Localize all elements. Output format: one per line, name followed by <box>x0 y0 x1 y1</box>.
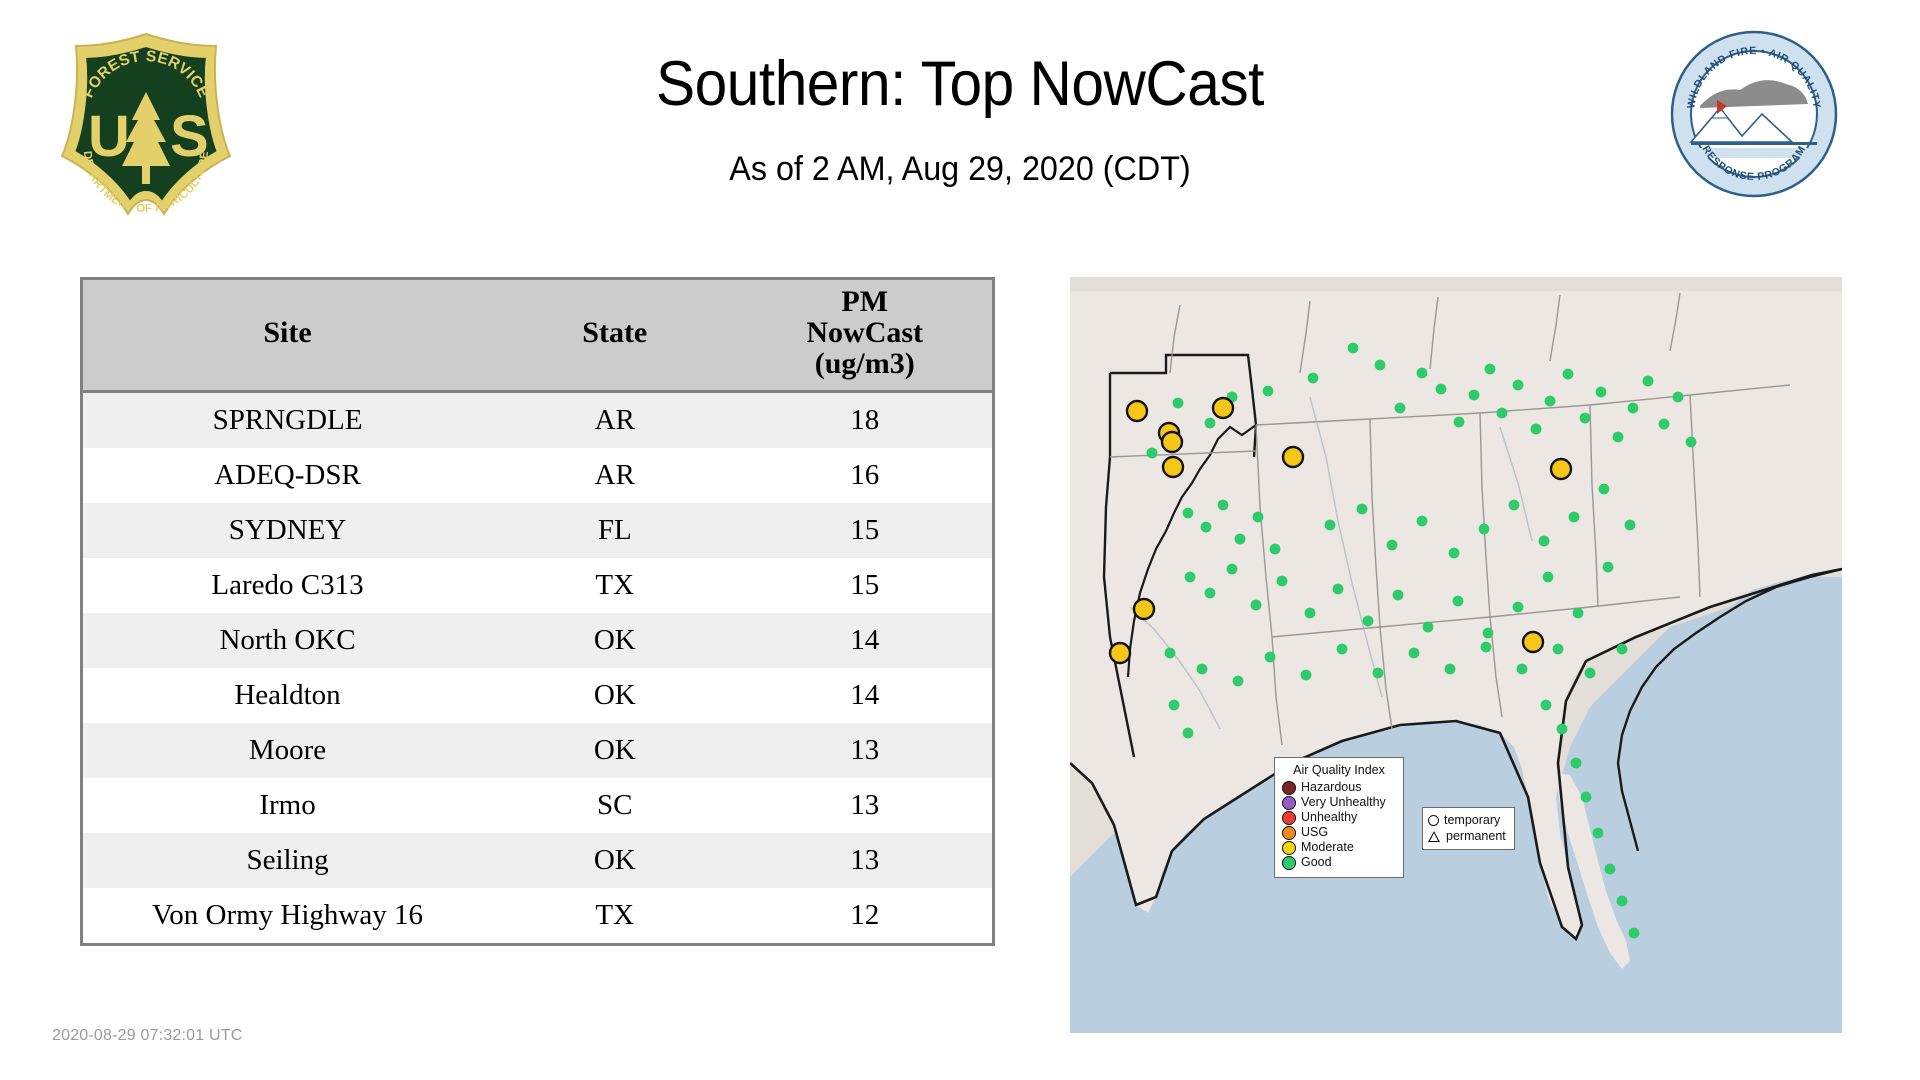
monitor-marker-good[interactable] <box>1169 700 1180 711</box>
monitor-marker-good[interactable] <box>1673 392 1684 403</box>
monitor-marker-moderate[interactable] <box>1551 459 1571 479</box>
monitor-marker-good[interactable] <box>1585 668 1596 679</box>
table-body: SPRNGDLEAR18ADEQ-DSRAR16SYDNEYFL15Laredo… <box>83 391 992 943</box>
monitor-marker-good[interactable] <box>1571 758 1582 769</box>
state-cell: OK <box>492 833 737 888</box>
aqi-legend-dot-icon <box>1282 856 1296 870</box>
monitor-marker-good[interactable] <box>1263 386 1274 397</box>
monitor-marker-good[interactable] <box>1485 364 1496 375</box>
monitor-marker-good[interactable] <box>1301 670 1312 681</box>
table-row: IrmoSC13 <box>83 778 992 833</box>
value-cell: 13 <box>737 778 992 833</box>
aqi-legend-label: Good <box>1301 856 1332 869</box>
monitor-marker-moderate[interactable] <box>1110 643 1130 663</box>
aqi-legend-item: USG <box>1282 825 1396 840</box>
monitor-marker-good[interactable] <box>1629 928 1640 939</box>
temporary-circle-icon <box>1428 815 1439 826</box>
column-header-value-line3: (ug/m3) <box>741 348 988 379</box>
monitor-marker-good[interactable] <box>1253 512 1264 523</box>
aqi-legend-item: Hazardous <box>1282 780 1396 795</box>
aqi-legend-rows: HazardousVery UnhealthyUnhealthyUSGModer… <box>1282 780 1396 870</box>
monitor-marker-good[interactable] <box>1417 516 1428 527</box>
aqi-legend-label: Moderate <box>1301 841 1354 854</box>
value-cell: 15 <box>737 558 992 613</box>
monitor-marker-good[interactable] <box>1333 584 1344 595</box>
monitor-marker-good[interactable] <box>1531 424 1542 435</box>
aqi-legend-label: Very Unhealthy <box>1301 796 1386 809</box>
monitor-marker-good[interactable] <box>1569 512 1580 523</box>
monitor-marker-good[interactable] <box>1509 500 1520 511</box>
site-cell: Moore <box>83 723 492 778</box>
legend-temporary-row: temporary <box>1428 812 1506 828</box>
value-cell: 14 <box>737 613 992 668</box>
state-cell: AR <box>492 448 737 503</box>
monitor-marker-good[interactable] <box>1205 588 1216 599</box>
aqi-legend-label: Unhealthy <box>1301 811 1357 824</box>
aqi-legend-label: USG <box>1301 826 1328 839</box>
column-header-value-line2: NowCast <box>741 317 988 348</box>
site-cell: Healdton <box>83 668 492 723</box>
monitor-marker-good[interactable] <box>1581 792 1592 803</box>
monitor-marker-good[interactable] <box>1308 373 1319 384</box>
monitor-marker-good[interactable] <box>1305 608 1316 619</box>
monitor-marker-good[interactable] <box>1605 864 1616 875</box>
value-cell: 18 <box>737 391 992 448</box>
monitor-marker-good[interactable] <box>1348 343 1359 354</box>
monitor-marker-good[interactable] <box>1409 648 1420 659</box>
permanent-triangle-icon <box>1428 830 1441 842</box>
monitor-marker-good[interactable] <box>1573 608 1584 619</box>
monitor-marker-good[interactable] <box>1497 408 1508 419</box>
monitor-marker-good[interactable] <box>1147 448 1158 459</box>
state-cell: TX <box>492 558 737 613</box>
monitor-marker-good[interactable] <box>1553 644 1564 655</box>
monitor-marker-good[interactable] <box>1617 644 1628 655</box>
aqi-legend-dot-icon <box>1282 811 1296 825</box>
aqi-legend-dot-icon <box>1282 796 1296 810</box>
monitor-marker-good[interactable] <box>1337 644 1348 655</box>
monitor-marker-good[interactable] <box>1617 896 1628 907</box>
table-row: SPRNGDLEAR18 <box>83 391 992 448</box>
monitor-marker-good[interactable] <box>1593 828 1604 839</box>
monitor-marker-good[interactable] <box>1277 576 1288 587</box>
monitor-marker-good[interactable] <box>1628 403 1639 414</box>
monitor-marker-good[interactable] <box>1563 369 1574 380</box>
monitor-marker-good[interactable] <box>1603 562 1614 573</box>
state-cell: AR <box>492 391 737 448</box>
monitor-marker-good[interactable] <box>1165 648 1176 659</box>
site-cell: Seiling <box>83 833 492 888</box>
aqi-legend-item: Good <box>1282 855 1396 870</box>
table-header: Site State PM NowCast (ug/m3) <box>83 280 992 391</box>
monitor-marker-good[interactable] <box>1479 524 1490 535</box>
monitor-marker-good[interactable] <box>1599 484 1610 495</box>
monitor-marker-good[interactable] <box>1270 544 1281 555</box>
monitor-marker-moderate[interactable] <box>1213 398 1233 418</box>
monitor-marker-good[interactable] <box>1197 664 1208 675</box>
monitor-marker-good[interactable] <box>1643 376 1654 387</box>
page-subtitle: As of 2 AM, Aug 29, 2020 (CDT) <box>48 150 1872 189</box>
monitor-marker-good[interactable] <box>1233 676 1244 687</box>
monitor-marker-good[interactable] <box>1423 622 1434 633</box>
value-cell: 15 <box>737 503 992 558</box>
monitor-marker-moderate[interactable] <box>1283 447 1303 467</box>
column-header-site: Site <box>83 280 492 391</box>
site-cell: Laredo C313 <box>83 558 492 613</box>
legend-permanent-row: permanent <box>1428 828 1506 844</box>
monitor-marker-good[interactable] <box>1517 664 1528 675</box>
aqi-legend-title: Air Quality Index <box>1282 763 1396 777</box>
monitor-marker-good[interactable] <box>1541 700 1552 711</box>
monitor-marker-moderate[interactable] <box>1163 457 1183 477</box>
monitor-marker-good[interactable] <box>1454 417 1465 428</box>
aqi-legend-dot-icon <box>1282 841 1296 855</box>
monitor-marker-moderate[interactable] <box>1162 432 1182 452</box>
top-nowcast-table: Site State PM NowCast (ug/m3) SPRNGDLEAR… <box>83 280 992 943</box>
monitor-marker-good[interactable] <box>1325 520 1336 531</box>
value-cell: 14 <box>737 668 992 723</box>
monitor-marker-good[interactable] <box>1393 590 1404 601</box>
monitor-marker-good[interactable] <box>1625 520 1636 531</box>
monitor-marker-good[interactable] <box>1539 536 1550 547</box>
monitor-marker-good[interactable] <box>1227 564 1238 575</box>
top-nowcast-table-container: Site State PM NowCast (ug/m3) SPRNGDLEAR… <box>80 277 995 946</box>
monitor-marker-good[interactable] <box>1596 387 1607 398</box>
aqi-legend-item: Unhealthy <box>1282 810 1396 825</box>
aqi-legend-label: Hazardous <box>1301 781 1361 794</box>
monitor-marker-good[interactable] <box>1449 548 1460 559</box>
monitor-marker-good[interactable] <box>1686 437 1697 448</box>
monitor-marker-good[interactable] <box>1185 572 1196 583</box>
monitor-marker-moderate[interactable] <box>1127 401 1147 421</box>
monitor-marker-good[interactable] <box>1659 419 1670 430</box>
slide-page: FOREST SERVICE U S DEPARTMENT OF AGRICUL… <box>0 0 1920 1080</box>
state-cell: FL <box>492 503 737 558</box>
table-row: MooreOK13 <box>83 723 992 778</box>
monitor-marker-good[interactable] <box>1218 500 1229 511</box>
monitor-marker-good[interactable] <box>1613 432 1624 443</box>
aqi-legend: Air Quality Index HazardousVery Unhealth… <box>1274 757 1404 878</box>
table-row: Laredo C313TX15 <box>83 558 992 613</box>
site-cell: North OKC <box>83 613 492 668</box>
monitor-marker-good[interactable] <box>1513 602 1524 613</box>
site-cell: Irmo <box>83 778 492 833</box>
site-cell: SYDNEY <box>83 503 492 558</box>
monitor-map[interactable]: Air Quality Index HazardousVery Unhealth… <box>1070 277 1842 1033</box>
page-title: Southern: Top NowCast <box>67 48 1853 120</box>
column-header-value: PM NowCast (ug/m3) <box>737 280 992 391</box>
monitor-marker-good[interactable] <box>1543 572 1554 583</box>
monitor-marker-good[interactable] <box>1481 642 1492 653</box>
monitor-marker-good[interactable] <box>1375 360 1386 371</box>
table-row: SYDNEYFL15 <box>83 503 992 558</box>
site-type-legend: temporary permanent <box>1422 807 1515 850</box>
state-cell: OK <box>492 668 737 723</box>
value-cell: 12 <box>737 888 992 943</box>
site-cell: SPRNGDLE <box>83 391 492 448</box>
monitor-marker-good[interactable] <box>1436 384 1447 395</box>
monitor-marker-good[interactable] <box>1363 616 1374 627</box>
monitor-marker-good[interactable] <box>1580 413 1591 424</box>
table-row: ADEQ-DSRAR16 <box>83 448 992 503</box>
monitor-marker-good[interactable] <box>1205 418 1216 429</box>
monitor-marker-good[interactable] <box>1557 724 1568 735</box>
monitor-marker-moderate[interactable] <box>1523 632 1543 652</box>
monitor-marker-good[interactable] <box>1183 728 1194 739</box>
table-row: Von Ormy Highway 16TX12 <box>83 888 992 943</box>
legend-temporary-label: temporary <box>1444 813 1500 827</box>
monitor-marker-good[interactable] <box>1387 540 1398 551</box>
state-cell: OK <box>492 613 737 668</box>
monitor-marker-good[interactable] <box>1453 596 1464 607</box>
monitor-marker-good[interactable] <box>1483 628 1494 639</box>
monitor-marker-good[interactable] <box>1183 508 1194 519</box>
site-cell: Von Ormy Highway 16 <box>83 888 492 943</box>
legend-permanent-label: permanent <box>1446 829 1506 843</box>
value-cell: 16 <box>737 448 992 503</box>
monitor-marker-good[interactable] <box>1395 403 1406 414</box>
column-header-state: State <box>492 280 737 391</box>
state-cell: TX <box>492 888 737 943</box>
monitor-marker-good[interactable] <box>1513 380 1524 391</box>
generation-timestamp: 2020-08-29 07:32:01 UTC <box>52 1027 243 1045</box>
state-cell: SC <box>492 778 737 833</box>
value-cell: 13 <box>737 723 992 778</box>
table-row: North OKCOK14 <box>83 613 992 668</box>
column-header-value-line1: PM <box>741 286 988 317</box>
monitor-marker-good[interactable] <box>1373 668 1384 679</box>
monitor-marker-good[interactable] <box>1445 664 1456 675</box>
monitor-marker-good[interactable] <box>1173 398 1184 409</box>
table-row: SeilingOK13 <box>83 833 992 888</box>
monitor-marker-good[interactable] <box>1201 522 1212 533</box>
monitor-marker-good[interactable] <box>1417 368 1428 379</box>
table-row: HealdtonOK14 <box>83 668 992 723</box>
aqi-legend-dot-icon <box>1282 826 1296 840</box>
table-header-row: Site State PM NowCast (ug/m3) <box>83 280 992 391</box>
aqi-legend-dot-icon <box>1282 781 1296 795</box>
monitor-marker-moderate[interactable] <box>1134 599 1154 619</box>
state-cell: OK <box>492 723 737 778</box>
monitor-marker-good[interactable] <box>1235 534 1246 545</box>
monitor-marker-good[interactable] <box>1357 504 1368 515</box>
site-cell: ADEQ-DSR <box>83 448 492 503</box>
aqi-legend-item: Moderate <box>1282 840 1396 855</box>
aqi-legend-item: Very Unhealthy <box>1282 795 1396 810</box>
value-cell: 13 <box>737 833 992 888</box>
monitor-marker-good[interactable] <box>1251 600 1262 611</box>
map-basemap <box>1070 277 1842 1033</box>
monitor-marker-good[interactable] <box>1265 652 1276 663</box>
monitor-marker-good[interactable] <box>1545 396 1556 407</box>
monitor-marker-good[interactable] <box>1469 390 1480 401</box>
